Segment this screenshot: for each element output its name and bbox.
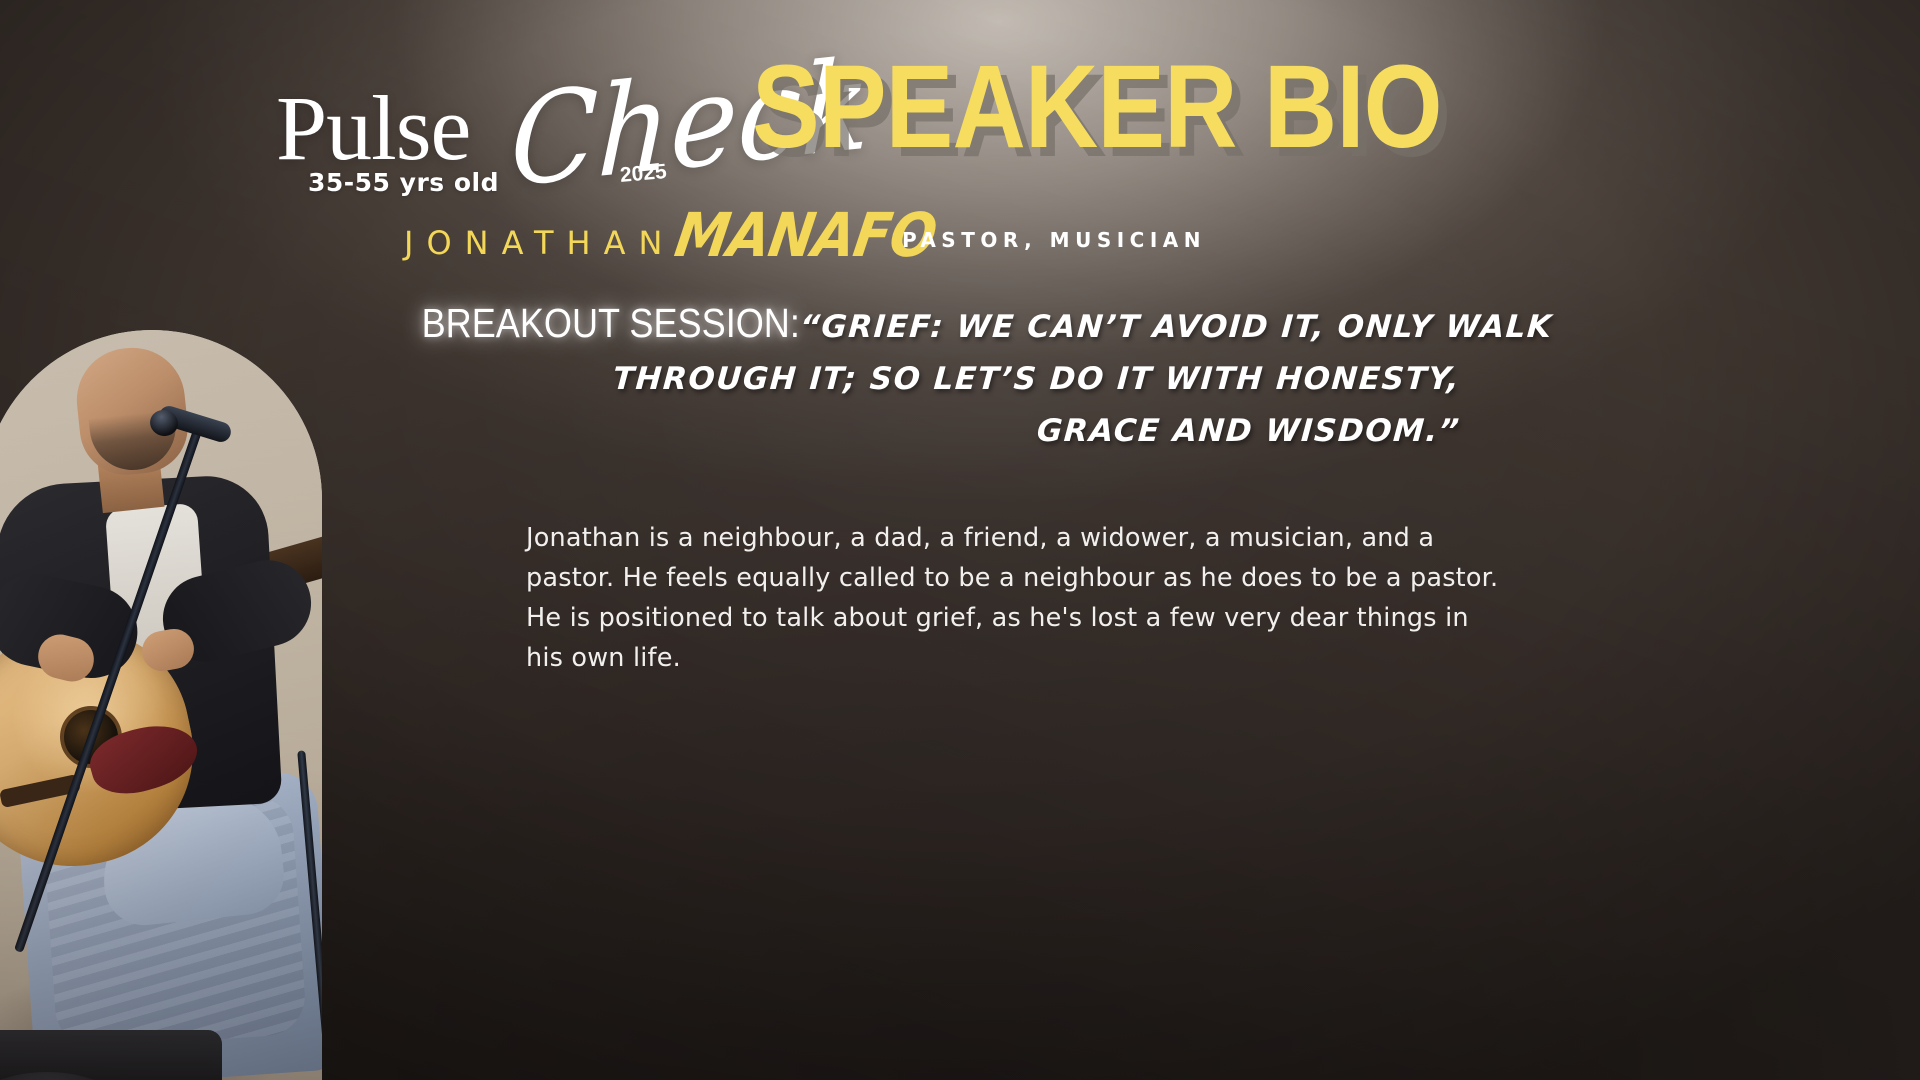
speaker-first-name: JONATHAN [404, 224, 675, 262]
session-line-1: BREAKOUT SESSION:“GRIEF: WE CAN’T AVOID … [370, 298, 1460, 352]
speaker-photo-image [0, 330, 322, 1080]
photo-shading-overlay [0, 330, 322, 1080]
speaker-name-row: JONATHAN MANAFO PASTOR, MUSICIAN [404, 212, 1504, 270]
session-lead-label: BREAKOUT SESSION: [422, 298, 800, 348]
breakout-session-title: BREAKOUT SESSION:“GRIEF: WE CAN’T AVOID … [370, 298, 1460, 456]
event-logo: Pulse Check 2025 35-55 yrs old [276, 62, 796, 202]
session-quote-line-3: GRACE AND WISDOM.” [1035, 406, 1462, 456]
session-line-3: GRACE AND WISDOM.” [370, 404, 1460, 456]
logo-age-range: 35-55 yrs old [308, 168, 499, 197]
session-line-2: THROUGH IT; SO LET’S DO IT WITH HONESTY, [370, 352, 1460, 404]
speaker-last-name: MANAFO [670, 200, 940, 271]
page-title: SPEAKER BIO [752, 48, 1442, 166]
speaker-bio-paragraph: Jonathan is a neighbour, a dad, a friend… [526, 518, 1511, 678]
session-quote-line-1: “GRIEF: WE CAN’T AVOID IT, ONLY WALK [798, 302, 1554, 352]
speaker-role: PASTOR, MUSICIAN [902, 228, 1206, 252]
logo-year: 2025 [619, 160, 668, 188]
speaker-photo [0, 330, 322, 1080]
session-quote-line-2: THROUGH IT; SO LET’S DO IT WITH HONESTY, [611, 354, 1462, 404]
logo-word-pulse: Pulse [276, 82, 470, 174]
slide-canvas: Pulse Check 2025 35-55 yrs old SPEAKER B… [0, 0, 1920, 1080]
